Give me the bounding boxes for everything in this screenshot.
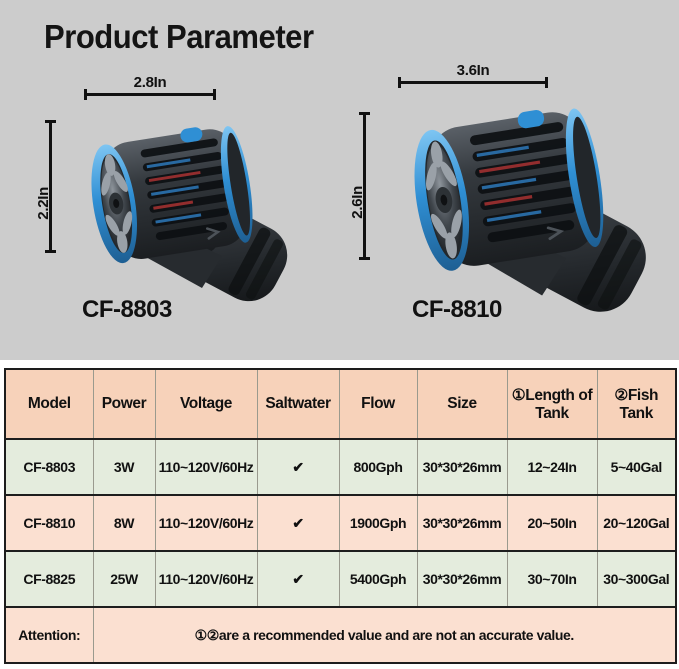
height-dimension-label-right: 2.6In: [350, 186, 367, 219]
cell-fish-tank: 20~120Gal: [597, 495, 676, 551]
height-dimension-right: 2.6In: [348, 112, 370, 260]
cell-voltage: 110~120V/60Hz: [155, 551, 257, 607]
cell-saltwater-check: ✔: [257, 439, 339, 495]
table-footer-row: Attention: ①②are a recommended value and…: [5, 607, 676, 663]
table-header-row: Model Power Voltage Saltwater Flow Size …: [5, 369, 676, 439]
product-parameter-page: Product Parameter 2.8In 2.2In: [0, 0, 679, 669]
cell-size: 30*30*26mm: [417, 495, 507, 551]
cell-voltage: 110~120V/60Hz: [155, 439, 257, 495]
column-header-voltage: Voltage: [155, 369, 257, 439]
column-header-saltwater: Saltwater: [257, 369, 339, 439]
dimension-bar: [84, 93, 216, 96]
cell-model: CF-8803: [5, 439, 93, 495]
cell-power: 3W: [93, 439, 155, 495]
page-title: Product Parameter: [44, 18, 314, 56]
hero-section: Product Parameter 2.8In 2.2In: [0, 0, 679, 360]
cell-saltwater-check: ✔: [257, 551, 339, 607]
cell-size: 30*30*26mm: [417, 439, 507, 495]
cell-model: CF-8810: [5, 495, 93, 551]
column-header-power: Power: [93, 369, 155, 439]
cell-length-of-tank: 20~50In: [507, 495, 597, 551]
column-header-model: Model: [5, 369, 93, 439]
table-row: CF-8810 8W 110~120V/60Hz ✔ 1900Gph 30*30…: [5, 495, 676, 551]
column-header-size: Size: [417, 369, 507, 439]
cell-size: 30*30*26mm: [417, 551, 507, 607]
cell-length-of-tank: 30~70In: [507, 551, 597, 607]
cell-flow: 800Gph: [339, 439, 417, 495]
width-dimension-label-left: 2.8In: [84, 74, 216, 91]
cell-flow: 5400Gph: [339, 551, 417, 607]
cell-fish-tank: 30~300Gal: [597, 551, 676, 607]
dimension-cap-left: [84, 89, 87, 100]
spec-table-section: Model Power Voltage Saltwater Flow Size …: [0, 360, 679, 664]
cell-power: 8W: [93, 495, 155, 551]
width-dimension-label-right: 3.6In: [398, 62, 548, 79]
table-row: CF-8803 3W 110~120V/60Hz ✔ 800Gph 30*30*…: [5, 439, 676, 495]
cell-length-of-tank: 12~24In: [507, 439, 597, 495]
dimension-cap-right: [545, 77, 548, 88]
cell-model: CF-8825: [5, 551, 93, 607]
height-dimension-label-left: 2.2In: [36, 187, 53, 220]
pump-image-cf8810: [368, 94, 668, 324]
column-header-fish-tank: ②Fish Tank: [597, 369, 676, 439]
pump-image-cf8803: [52, 106, 312, 316]
spec-table: Model Power Voltage Saltwater Flow Size …: [4, 368, 677, 664]
dimension-cap-right: [213, 89, 216, 100]
model-caption-right: CF-8810: [412, 296, 502, 324]
width-dimension-right: 3.6In: [398, 66, 548, 88]
table-row: CF-8825 25W 110~120V/60Hz ✔ 5400Gph 30*3…: [5, 551, 676, 607]
column-header-length-of-tank: ①Length of Tank: [507, 369, 597, 439]
cell-fish-tank: 5~40Gal: [597, 439, 676, 495]
cell-flow: 1900Gph: [339, 495, 417, 551]
model-caption-left: CF-8803: [82, 296, 172, 324]
dimension-cap-left: [398, 77, 401, 88]
width-dimension-left: 2.8In: [84, 78, 216, 100]
column-header-flow: Flow: [339, 369, 417, 439]
attention-text: ①②are a recommended value and are not an…: [93, 607, 676, 663]
dimension-bar: [398, 81, 548, 84]
attention-label: Attention:: [5, 607, 93, 663]
cell-saltwater-check: ✔: [257, 495, 339, 551]
cell-voltage: 110~120V/60Hz: [155, 495, 257, 551]
cell-power: 25W: [93, 551, 155, 607]
